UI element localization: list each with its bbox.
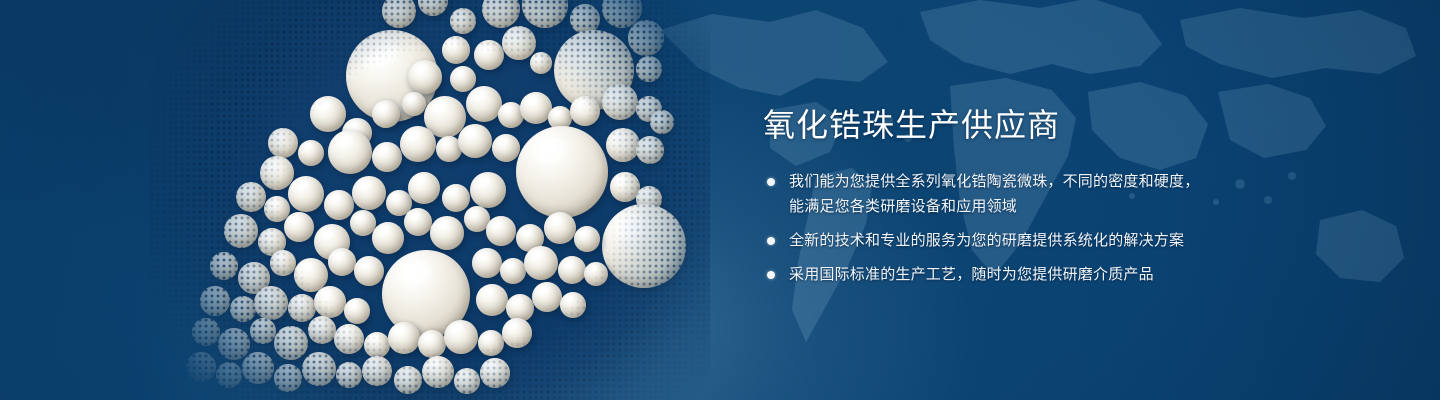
bead [236, 182, 266, 212]
bead [408, 60, 442, 94]
bead [502, 26, 536, 60]
bead [404, 208, 432, 236]
bead [200, 286, 230, 316]
bead [334, 324, 364, 354]
bead [268, 128, 298, 158]
bead [492, 134, 520, 162]
bead [470, 172, 506, 208]
bead [230, 296, 256, 322]
bead [352, 176, 386, 210]
hero-banner: 氧化锆珠生产供应商 我们能为您提供全系列氧化锆陶瓷微珠，不同的密度和硬度， 能满… [0, 0, 1440, 400]
bead [636, 136, 664, 164]
bead [486, 216, 516, 246]
bead [430, 216, 464, 250]
bead [450, 8, 476, 34]
bead [418, 0, 448, 16]
bead [186, 352, 216, 382]
bead [388, 322, 420, 354]
bead [584, 262, 608, 286]
list-item-line-2: 能满足您各类研磨设备和应用领域 [789, 194, 1323, 219]
list-item: 我们能为您提供全系列氧化锆陶瓷微珠，不同的密度和硬度， 能满足您各类研磨设备和应… [763, 169, 1323, 219]
bead [482, 0, 520, 28]
bead [328, 248, 356, 276]
bullet-dot-icon [767, 237, 775, 245]
bead [394, 366, 422, 394]
bead [308, 316, 336, 344]
bead [362, 356, 392, 386]
bead-cluster [150, 0, 710, 400]
bead [480, 358, 510, 388]
bead [628, 20, 664, 56]
bead [288, 176, 324, 212]
bead [274, 326, 308, 360]
bead [636, 56, 662, 82]
bead [476, 284, 508, 316]
bead [606, 128, 640, 162]
bead [210, 252, 238, 280]
list-item-line-1: 我们能为您提供全系列氧化锆陶瓷微珠，不同的密度和硬度， [789, 169, 1323, 194]
bead [344, 298, 370, 324]
bead [524, 246, 558, 280]
bead [328, 130, 372, 174]
bead [372, 222, 404, 254]
bead [400, 126, 436, 162]
bead [500, 258, 526, 284]
bead [650, 110, 674, 134]
bullet-dot-icon [767, 178, 775, 186]
bead [298, 140, 324, 166]
bead [310, 96, 346, 132]
bead [422, 356, 454, 388]
bead [260, 156, 294, 190]
bead [560, 292, 586, 318]
bead [522, 0, 568, 28]
bead [516, 126, 608, 218]
bead [532, 282, 562, 312]
bead [466, 86, 502, 122]
bead [502, 318, 532, 348]
bead [444, 320, 478, 354]
list-item-line-1: 全新的技术和专业的服务为您的研磨提供系统化的解决方案 [789, 228, 1323, 253]
bead [270, 250, 296, 276]
bead [558, 256, 586, 284]
bead [408, 172, 440, 204]
bead [288, 294, 316, 322]
bead [284, 212, 314, 242]
bead [570, 96, 600, 126]
bead [574, 226, 600, 252]
bead [224, 214, 258, 248]
bead [402, 92, 426, 116]
bead [474, 40, 504, 70]
bead [442, 36, 470, 64]
bead [254, 286, 288, 320]
bead [442, 184, 470, 212]
bead [450, 66, 476, 92]
bead [218, 328, 250, 360]
bead [418, 330, 446, 358]
bead [454, 368, 480, 394]
feature-list: 我们能为您提供全系列氧化锆陶瓷微珠，不同的密度和硬度， 能满足您各类研磨设备和应… [763, 169, 1323, 287]
bead [216, 362, 242, 388]
bead [354, 256, 384, 286]
zirconia-beads-photo [150, 0, 710, 400]
bead [478, 330, 504, 356]
bead [372, 100, 400, 128]
bead [302, 352, 336, 386]
banner-content: 氧化锆珠生产供应商 我们能为您提供全系列氧化锆陶瓷微珠，不同的密度和硬度， 能满… [763, 108, 1323, 287]
bead [372, 142, 402, 172]
bead [602, 204, 686, 288]
bead [472, 248, 502, 278]
bead [192, 318, 220, 346]
bead [314, 286, 346, 318]
bead [242, 352, 274, 384]
list-item: 全新的技术和专业的服务为您的研磨提供系统化的解决方案 [763, 228, 1323, 253]
list-item: 采用国际标准的生产工艺，随时为您提供研磨介质产品 [763, 262, 1323, 287]
bead [336, 362, 362, 388]
bead [602, 84, 638, 120]
bead [382, 0, 416, 28]
bead [458, 124, 492, 158]
list-item-line-1: 采用国际标准的生产工艺，随时为您提供研磨介质产品 [789, 262, 1323, 287]
bead [530, 52, 552, 74]
bullet-dot-icon [767, 271, 775, 279]
page-title: 氧化锆珠生产供应商 [763, 108, 1323, 143]
bead [544, 212, 576, 244]
bead [274, 364, 302, 392]
bead [364, 332, 390, 358]
bead [324, 190, 354, 220]
bead [250, 318, 276, 344]
